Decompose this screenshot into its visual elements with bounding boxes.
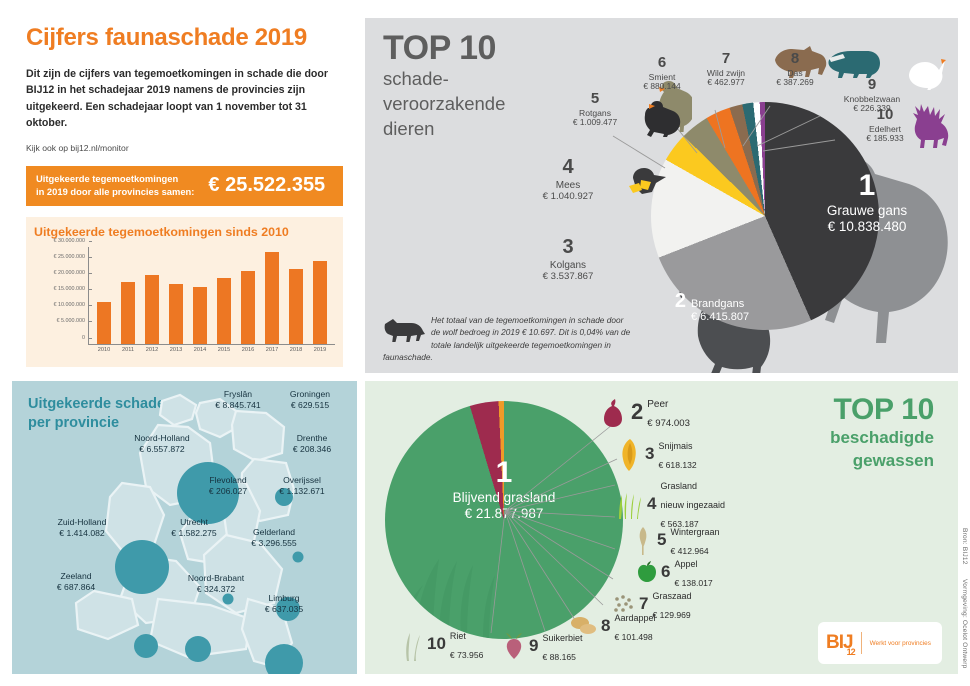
x-tick: 2017 xyxy=(266,344,278,353)
map-label-gelderland: Gelderland € 3.296.555 xyxy=(251,527,296,548)
x-tick: 2018 xyxy=(290,344,302,353)
bar-item: 2014 xyxy=(188,247,212,344)
suikerbiet-icon xyxy=(503,633,525,659)
total-payout-value: € 25.522.355 xyxy=(208,174,325,197)
total-payout-label: Uitgekeerde tegemoetkomingen in 2019 doo… xyxy=(36,173,194,198)
crop-label-2: 2 Peer € 974.003 xyxy=(603,393,690,431)
animal-label-1: 1 Grauwe gans € 10.838.480 xyxy=(777,168,957,235)
map-panel: Uitgekeerde schade per provincie xyxy=(12,381,357,674)
map-label-noord-brabant: Noord-Brabant € 324.372 xyxy=(188,573,244,594)
map-label-overijssel: Overijssel € 1.132.671 xyxy=(279,475,324,496)
bar xyxy=(289,269,303,343)
x-tick: 2010 xyxy=(98,344,110,353)
crop-label-3: 3 Snijmais € 618.132 xyxy=(619,435,697,473)
bar xyxy=(313,261,327,344)
animal-label-2: 2 Brandgans € 6.415.807 xyxy=(637,290,787,324)
bar-item: 2019 xyxy=(308,247,332,344)
total-payout-banner: Uitgekeerde tegemoetkomingen in 2019 doo… xyxy=(26,166,343,206)
y-tick: € 25.000.000 xyxy=(54,254,89,260)
chart-plot-area: € 30.000.000€ 25.000.000€ 20.000.000€ 15… xyxy=(88,247,335,345)
x-tick: 2015 xyxy=(218,344,230,353)
intro-panel: Cijfers faunaschade 2019 Dit zijn de cij… xyxy=(12,18,357,373)
map-label-utrecht: Utrecht € 1.582.275 xyxy=(171,517,216,538)
bar-item: 2013 xyxy=(164,247,188,344)
das-icon xyxy=(825,48,881,78)
credit-design: Vormgeving: Ocelot Ontwerp xyxy=(961,579,968,669)
edelhert-icon xyxy=(913,100,953,148)
bar-item: 2011 xyxy=(116,247,140,344)
peer-icon xyxy=(603,397,627,427)
riet-icon xyxy=(401,627,423,661)
bar xyxy=(121,282,135,343)
bar xyxy=(193,287,207,344)
animals-panel: TOP 10 schade- veroorzakende dieren xyxy=(365,18,958,373)
mees-icon xyxy=(623,166,671,196)
logo-divider xyxy=(861,632,862,654)
bar xyxy=(169,284,183,343)
total-payout-label-line2: in 2019 door alle provincies samen: xyxy=(36,186,194,199)
x-tick: 2014 xyxy=(194,344,206,353)
infographic-page: Cijfers faunaschade 2019 Dit zijn de cij… xyxy=(0,0,970,686)
crop-label-9: 9 Suikerbiet € 88.165 xyxy=(503,627,583,665)
intro-link-note: Kijk ook op bij12.nl/monitor xyxy=(26,143,343,153)
map-dot-gelderland xyxy=(265,644,303,674)
bar-item: 2015 xyxy=(212,247,236,344)
x-tick: 2011 xyxy=(122,344,134,353)
x-tick: 2013 xyxy=(170,344,182,353)
bar xyxy=(97,302,111,344)
bar-item: 2010 xyxy=(92,247,116,344)
bij12-logo: BIJ12 Werkt voor provincies xyxy=(818,622,942,664)
map-dot-noord-holland xyxy=(115,540,169,594)
bar xyxy=(241,271,255,344)
bar xyxy=(217,278,231,344)
map-label-limburg: Limburg € 637.035 xyxy=(265,593,303,614)
map-label-flevoland: Flevoland € 206.027 xyxy=(209,475,247,496)
x-tick: 2016 xyxy=(242,344,254,353)
y-tick: € 15.000.000 xyxy=(54,286,89,292)
bar xyxy=(265,252,279,344)
intro-description: Dit zijn de cijfers van tegemoetkomingen… xyxy=(26,66,343,132)
map-label-zuid-holland: Zuid-Holland € 1.414.082 xyxy=(58,517,107,538)
payouts-since-2010-chart: Uitgekeerde tegemoetkomingen sinds 2010 … xyxy=(26,217,343,367)
knobbelzwaan-icon xyxy=(901,54,947,90)
bar-series: 2010201120122013201420152016201720182019 xyxy=(89,247,335,344)
y-tick: € 20.000.000 xyxy=(54,270,89,276)
y-tick: € 5.000.000 xyxy=(57,318,89,324)
smient-icon xyxy=(637,100,681,138)
x-tick: 2012 xyxy=(146,344,158,353)
wintergraan-icon xyxy=(633,525,653,555)
map-label-zeeland: Zeeland € 687.864 xyxy=(57,571,95,592)
total-payout-label-line1: Uitgekeerde tegemoetkomingen xyxy=(36,173,194,186)
credits: Bron: BIJ12 Vormgeving: Ocelot Ontwerp xyxy=(961,528,968,668)
bar-item: 2016 xyxy=(236,247,260,344)
map-label-drenthe: Drenthe € 208.346 xyxy=(293,433,331,454)
y-tick: 0 xyxy=(82,335,89,341)
page-title: Cijfers faunaschade 2019 xyxy=(12,18,357,52)
appel-icon xyxy=(637,561,657,583)
wolf-note: Het totaal van de tegemoetkomingen in sc… xyxy=(383,314,633,364)
crop-label-10: 10 Riet € 73.956 xyxy=(401,625,483,663)
bar xyxy=(145,275,159,344)
animal-label-4: 4 Mees € 1.040.927 xyxy=(513,156,623,203)
credit-source: Bron: BIJ12 xyxy=(961,528,968,565)
map-label-fryslan: Fryslân € 8.845.741 xyxy=(215,389,260,410)
map-dot-zuid-holland xyxy=(134,634,158,658)
chart-title: Uitgekeerde tegemoetkomingen sinds 2010 xyxy=(34,225,335,239)
map-dot-utrecht xyxy=(185,636,211,662)
crops-panel: TOP 10 beschadigde gewassen 1 Blijvend g… xyxy=(365,381,958,674)
snijmais-icon xyxy=(619,437,641,471)
bar-item: 2012 xyxy=(140,247,164,344)
grasland-nieuw-ingezaaid-icon xyxy=(615,489,643,519)
wolf-icon xyxy=(383,316,425,342)
logo-mark: BIJ12 xyxy=(826,632,853,654)
map-dot-drenthe xyxy=(293,552,304,563)
map-label-noord-holland: Noord-Holland € 6.557.872 xyxy=(134,433,189,454)
y-tick: € 10.000.000 xyxy=(54,302,89,308)
animal-label-3: 3 Kolgans € 3.537.867 xyxy=(513,236,623,283)
logo-tagline: Werkt voor provincies xyxy=(870,640,931,647)
map-label-groningen: Groningen € 629.515 xyxy=(290,389,330,410)
map-dot-flevoland xyxy=(223,594,234,605)
bar-item: 2017 xyxy=(260,247,284,344)
bar-item: 2018 xyxy=(284,247,308,344)
animal-label-5: 5 Rotgans € 1.009.477 xyxy=(543,90,647,128)
y-tick: € 30.000.000 xyxy=(54,238,89,244)
x-tick: 2019 xyxy=(314,344,326,353)
